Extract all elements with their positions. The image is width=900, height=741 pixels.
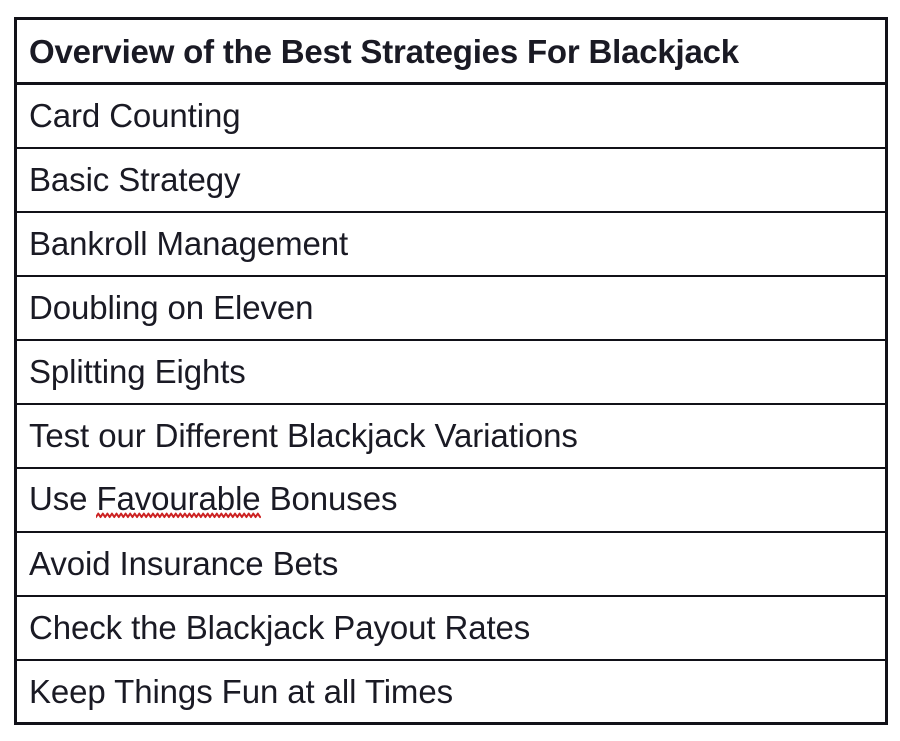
table-row: Bankroll Management	[16, 212, 887, 276]
strategy-check-payout-rates: Check the Blackjack Payout Rates	[16, 596, 887, 660]
table-body: Card Counting Basic Strategy Bankroll Ma…	[16, 84, 887, 724]
table-row: Doubling on Eleven	[16, 276, 887, 340]
table-row: Test our Different Blackjack Variations	[16, 404, 887, 468]
misspelled-word: Favourable	[96, 482, 260, 517]
strategy-test-blackjack-variations: Test our Different Blackjack Variations	[16, 404, 887, 468]
table-row: Card Counting	[16, 84, 887, 148]
strategy-table: Overview of the Best Strategies For Blac…	[14, 17, 888, 725]
page-root: Overview of the Best Strategies For Blac…	[0, 0, 900, 741]
table-title-cell: Overview of the Best Strategies For Blac…	[16, 19, 887, 84]
table-row: Basic Strategy	[16, 148, 887, 212]
table-row: Check the Blackjack Payout Rates	[16, 596, 887, 660]
table-row: Avoid Insurance Bets	[16, 532, 887, 596]
segment-prefix: Use	[29, 480, 96, 517]
segment-suffix: Bonuses	[261, 480, 398, 517]
strategy-use-favourable-bonuses: Use Favourable Bonuses	[16, 468, 887, 532]
strategy-card-counting: Card Counting	[16, 84, 887, 148]
strategy-avoid-insurance-bets: Avoid Insurance Bets	[16, 532, 887, 596]
strategy-keep-things-fun: Keep Things Fun at all Times	[16, 660, 887, 724]
misspelled-word-text: Favourable	[96, 480, 260, 517]
table-header: Overview of the Best Strategies For Blac…	[16, 19, 887, 84]
table-row: Splitting Eights	[16, 340, 887, 404]
strategy-basic-strategy: Basic Strategy	[16, 148, 887, 212]
table-row: Use Favourable Bonuses	[16, 468, 887, 532]
strategy-doubling-on-eleven: Doubling on Eleven	[16, 276, 887, 340]
strategy-bankroll-management: Bankroll Management	[16, 212, 887, 276]
table-header-row: Overview of the Best Strategies For Blac…	[16, 19, 887, 84]
strategy-splitting-eights: Splitting Eights	[16, 340, 887, 404]
table-row: Keep Things Fun at all Times	[16, 660, 887, 724]
